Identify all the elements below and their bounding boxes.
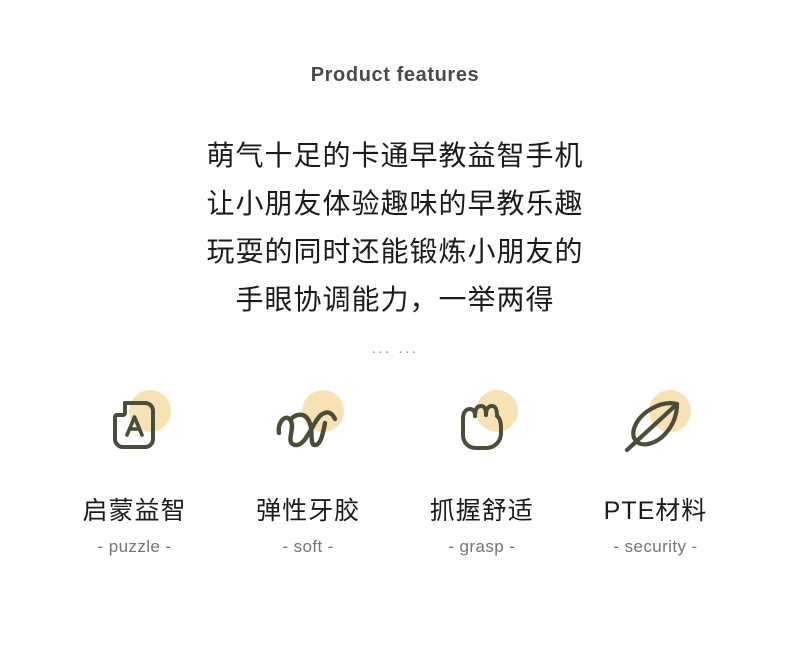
spring-coil-icon: [273, 397, 343, 453]
feature-title: 抓握舒适: [430, 496, 534, 526]
feature-title: 启蒙益智: [82, 496, 186, 526]
ellipsis-divider: ... ...: [0, 340, 790, 357]
body-line: 手眼协调能力，一举两得: [0, 276, 790, 324]
feature-title: PTE材料: [604, 496, 708, 526]
body-line: 让小朋友体验趣味的早教乐趣: [0, 180, 790, 228]
feature-item-grasp: 抓握舒适 - grasp -: [395, 386, 568, 557]
section-title: Product features: [0, 64, 790, 87]
icon-container: [93, 386, 177, 464]
feature-title: 弹性牙胶: [256, 496, 360, 526]
body-copy: 萌气十足的卡通早教益智手机 让小朋友体验趣味的早教乐趣 玩耍的同时还能锻炼小朋友…: [0, 132, 790, 324]
body-line: 萌气十足的卡通早教益智手机: [0, 132, 790, 180]
feature-subtitle: - grasp -: [448, 537, 515, 557]
icon-container: [613, 386, 697, 464]
body-line: 玩耍的同时还能锻炼小朋友的: [0, 228, 790, 276]
feature-subtitle: - security -: [613, 537, 697, 557]
feature-item-security: PTE材料 - security -: [569, 386, 742, 557]
feature-item-soft: 弹性牙胶 - soft -: [222, 386, 395, 557]
product-features-section: Product features 萌气十足的卡通早教益智手机 让小朋友体验趣味的…: [0, 0, 790, 648]
card-letter-a-icon: [105, 395, 165, 455]
feature-subtitle: - puzzle -: [98, 537, 172, 557]
grasping-hand-icon: [453, 395, 511, 455]
leaf-icon: [621, 394, 689, 456]
feature-subtitle: - soft -: [282, 537, 333, 557]
feature-list: 启蒙益智 - puzzle - 弹性牙胶 - soft -: [48, 386, 742, 557]
icon-container: [440, 386, 524, 464]
feature-item-puzzle: 启蒙益智 - puzzle -: [48, 386, 221, 557]
icon-container: [266, 386, 350, 464]
